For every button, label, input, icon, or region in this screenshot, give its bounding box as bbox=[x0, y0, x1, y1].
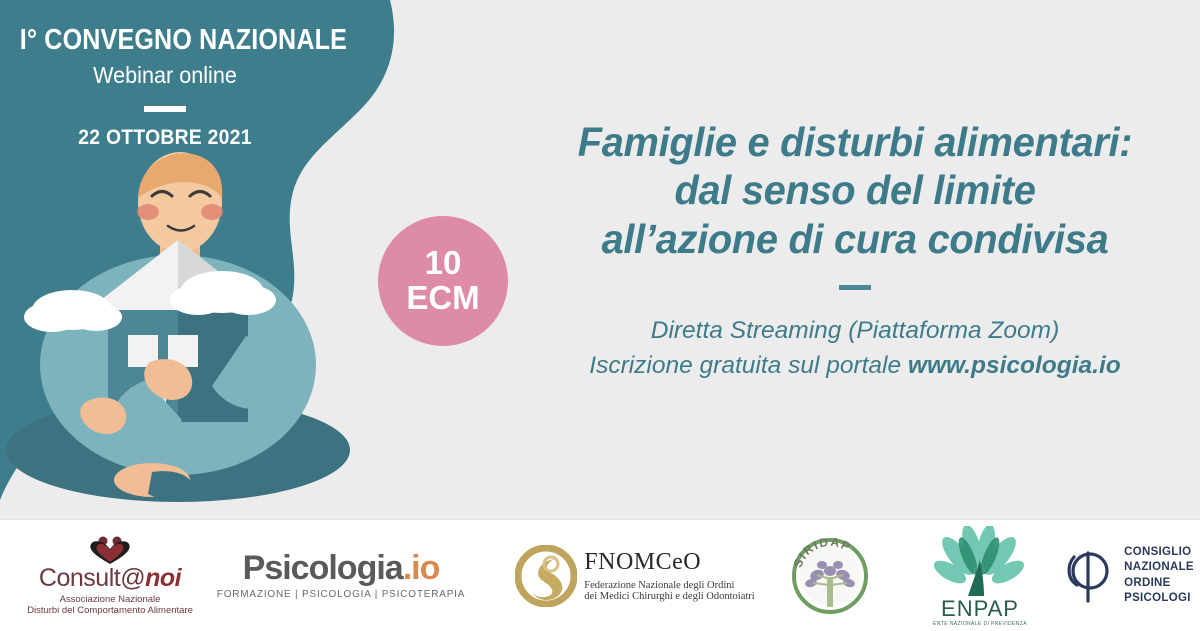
enpap-wordmark: ENPAP bbox=[941, 596, 1019, 621]
siridap-tree-circle-icon: SIRIDAP bbox=[789, 535, 871, 617]
consultanoi-tagline-2: Disturbi del Comportamento Alimentare bbox=[27, 605, 193, 616]
poster-stage: I° CONVEGNO NAZIONALE Webinar online 22 … bbox=[0, 0, 1200, 519]
fnomceo-tagline-2: dei Medici Chirurghi e degli Odontoiatri bbox=[584, 591, 754, 602]
psicologia-main: Psicologia bbox=[243, 549, 403, 587]
cnop-line-1: CONSIGLIO bbox=[1124, 545, 1194, 560]
subtitle-block: Diretta Streaming (Piattaforma Zoom) Isc… bbox=[530, 314, 1180, 384]
title-line-1: Famiglie e disturbi alimentari: bbox=[540, 118, 1171, 166]
sponsor-footer: Consult@noi Associazione Nazionale Distu… bbox=[0, 519, 1200, 630]
enpap-tree-icon: ENPAP ENTE NAZIONALE DI PREVIDENZA bbox=[928, 526, 1032, 626]
cnop-line-4: PSICOLOGI bbox=[1124, 591, 1194, 606]
logo-consultanoi: Consult@noi Associazione Nazionale Distu… bbox=[10, 520, 210, 631]
registration-info: Iscrizione gratuita sul portale www.psic… bbox=[530, 349, 1180, 384]
event-name: I° CONVEGNO NAZIONALE bbox=[20, 24, 310, 57]
cnop-line-2: NAZIONALE bbox=[1124, 560, 1194, 575]
logo-fnomceo: FNOMCeO Federazione Nazionale degli Ordi… bbox=[500, 520, 770, 631]
event-poster: I° CONVEGNO NAZIONALE Webinar online 22 … bbox=[0, 0, 1200, 630]
enpap-tagline: ENTE NAZIONALE DI PREVIDENZA bbox=[933, 621, 1027, 626]
ecm-number: 10 bbox=[425, 246, 462, 281]
main-content: Famiglie e disturbi alimentari: dal sens… bbox=[530, 118, 1180, 384]
logo-cnop: CONSIGLIO NAZIONALE ORDINE PSICOLOGI bbox=[1055, 520, 1200, 631]
consultanoi-noi: noi bbox=[145, 564, 181, 592]
header-block: I° CONVEGNO NAZIONALE Webinar online 22 … bbox=[0, 24, 330, 150]
logo-enpap: ENPAP ENTE NAZIONALE DI PREVIDENZA bbox=[915, 520, 1045, 631]
heart-hands-icon bbox=[86, 536, 134, 566]
logo-strip: Consult@noi Associazione Nazionale Distu… bbox=[0, 520, 1200, 631]
streaming-info: Diretta Streaming (Piattaforma Zoom) bbox=[530, 314, 1180, 349]
title-line-3: all’azione di cura condivisa bbox=[540, 215, 1171, 263]
consultanoi-tagline-1: Associazione Nazionale bbox=[60, 594, 161, 605]
consultanoi-prefix: Consult@ bbox=[39, 564, 145, 592]
cnop-line-3: ORDINE bbox=[1124, 576, 1194, 591]
header-divider bbox=[144, 106, 186, 112]
psicologia-io-suffix: .io bbox=[403, 549, 440, 587]
person-illustration bbox=[0, 150, 360, 519]
registration-text: Iscrizione gratuita sul portale bbox=[589, 352, 908, 379]
ecm-credits-badge: 10 ECM bbox=[378, 216, 508, 346]
psicologia-tagline: FORMAZIONE | PSICOLOGIA | PSICOTERAPIA bbox=[217, 589, 465, 600]
logo-psicologia-io: Psicologia.io FORMAZIONE | PSICOLOGIA | … bbox=[215, 520, 465, 631]
cnop-wordmark: CONSIGLIO NAZIONALE ORDINE PSICOLOGI bbox=[1124, 545, 1194, 606]
title-divider bbox=[839, 285, 871, 290]
psicologia-wordmark: Psicologia.io bbox=[243, 551, 440, 585]
website-url[interactable]: www.psicologia.io bbox=[908, 352, 1121, 379]
logo-siridap: SIRIDAP bbox=[765, 520, 895, 631]
event-format: Webinar online bbox=[10, 62, 320, 89]
fnomceo-tagline-1: Federazione Nazionale degli Ordini bbox=[584, 580, 754, 591]
title-line-2: dal senso del limite bbox=[540, 166, 1171, 214]
consultanoi-wordmark: Consult@noi bbox=[39, 566, 181, 591]
psi-symbol-icon bbox=[1061, 547, 1115, 605]
fnomceo-wordmark: FNOMCeO bbox=[584, 550, 754, 574]
event-date: 22 OTTOBRE 2021 bbox=[13, 126, 317, 150]
page-title: Famiglie e disturbi alimentari: dal sens… bbox=[530, 118, 1180, 263]
fnomceo-emblem-icon bbox=[515, 545, 577, 607]
ecm-label: ECM bbox=[406, 281, 479, 316]
